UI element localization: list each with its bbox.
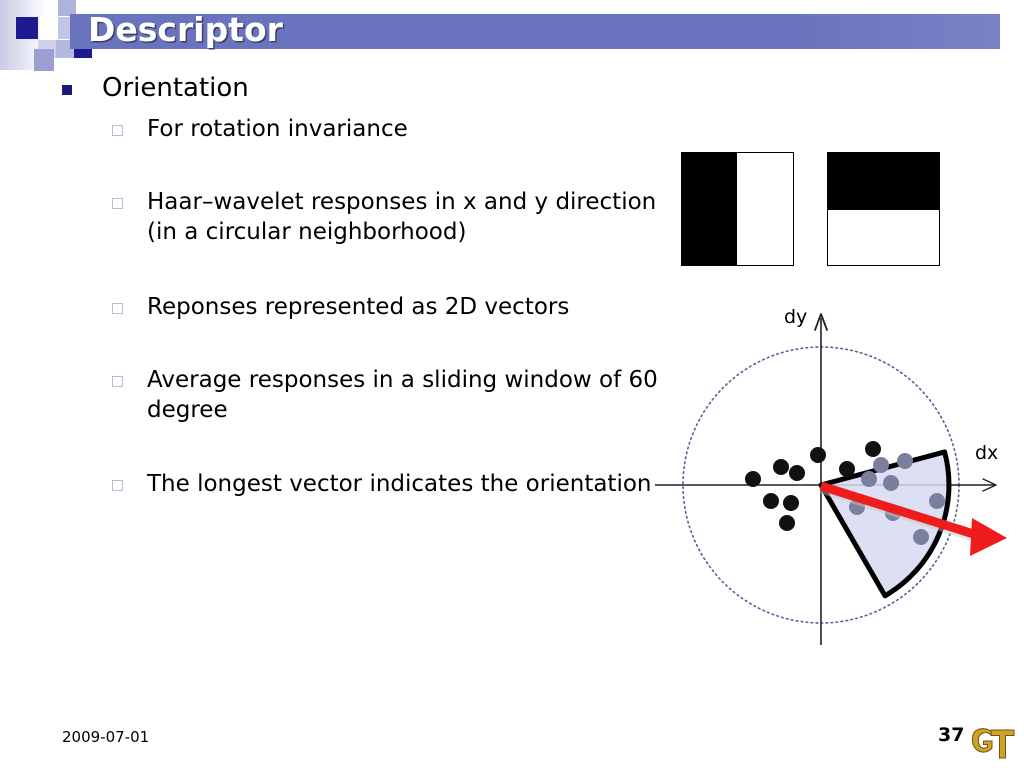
slide-canvas: Descriptor Orientation For rotation inva…: [0, 0, 1024, 768]
slide-header: Descriptor: [0, 0, 1024, 70]
response-dot-black: [773, 459, 789, 475]
bullet-item-2-label: Reponses represented as 2D vectors: [147, 292, 569, 322]
bullet-marker-hollow-square: [112, 303, 123, 314]
bullet-item-0: For rotation invariance: [112, 114, 672, 144]
response-dot-black: [865, 441, 881, 457]
bullet-item-3: Average responses in a sliding window of…: [112, 365, 672, 425]
orientation-diagram: dy dx: [650, 300, 1024, 660]
bullet-item-1: Haar–wavelet responses in x and y direct…: [112, 187, 672, 247]
bullet-marker-hollow-square: [112, 376, 123, 387]
georgia-tech-logo-icon: [970, 726, 1016, 762]
bullet-marker-hollow-square: [112, 198, 123, 209]
response-dot-black: [810, 447, 826, 463]
response-dot-black: [783, 495, 799, 511]
bullet-level1-label: Orientation: [102, 72, 249, 104]
bullet-marker-square: [62, 85, 72, 95]
deco-square-3: [40, 17, 58, 39]
response-dot-grey: [873, 457, 889, 473]
response-dot-black: [745, 471, 761, 487]
response-dot-grey: [913, 529, 929, 545]
response-dot-black: [779, 515, 795, 531]
deco-square-2: [16, 17, 38, 39]
haar-filter-dy-dark-region: [828, 153, 939, 210]
response-dot-black: [839, 461, 855, 477]
bullet-item-4-label: The longest vector indicates the orienta…: [147, 469, 651, 499]
response-dot-grey: [861, 471, 877, 487]
content-bullet-list: Orientation For rotation invariance Haar…: [0, 70, 660, 630]
response-dot-grey: [929, 493, 945, 509]
orientation-diagram-svg: [650, 300, 1024, 660]
bullet-level1-orientation: Orientation: [62, 72, 642, 104]
haar-filter-dx-dark-region: [682, 153, 737, 265]
gt-monogram-icon: [970, 726, 1016, 762]
bullet-item-4: The longest vector indicates the orienta…: [112, 469, 672, 499]
response-dot-black: [789, 465, 805, 481]
bullet-marker-hollow-square: [112, 480, 123, 491]
page-title: Descriptor: [88, 10, 283, 49]
response-dot-grey: [883, 475, 899, 491]
footer-page-number: 37: [938, 724, 964, 746]
haar-filter-dx: [681, 152, 794, 266]
bullet-item-1-label: Haar–wavelet responses in x and y direct…: [147, 187, 672, 247]
footer-date: 2009-07-01: [62, 728, 149, 746]
deco-square-9: [34, 49, 54, 71]
bullet-item-2: Reponses represented as 2D vectors: [112, 292, 672, 322]
bullet-item-0-label: For rotation invariance: [147, 114, 408, 144]
axis-dy-label: dy: [784, 306, 807, 328]
bullet-item-3-label: Average responses in a sliding window of…: [147, 365, 672, 425]
haar-filter-dy: [827, 152, 940, 266]
axis-dx-label: dx: [975, 442, 998, 464]
response-dot-black: [763, 493, 779, 509]
bullet-marker-hollow-square: [112, 125, 123, 136]
response-dot-grey: [897, 453, 913, 469]
